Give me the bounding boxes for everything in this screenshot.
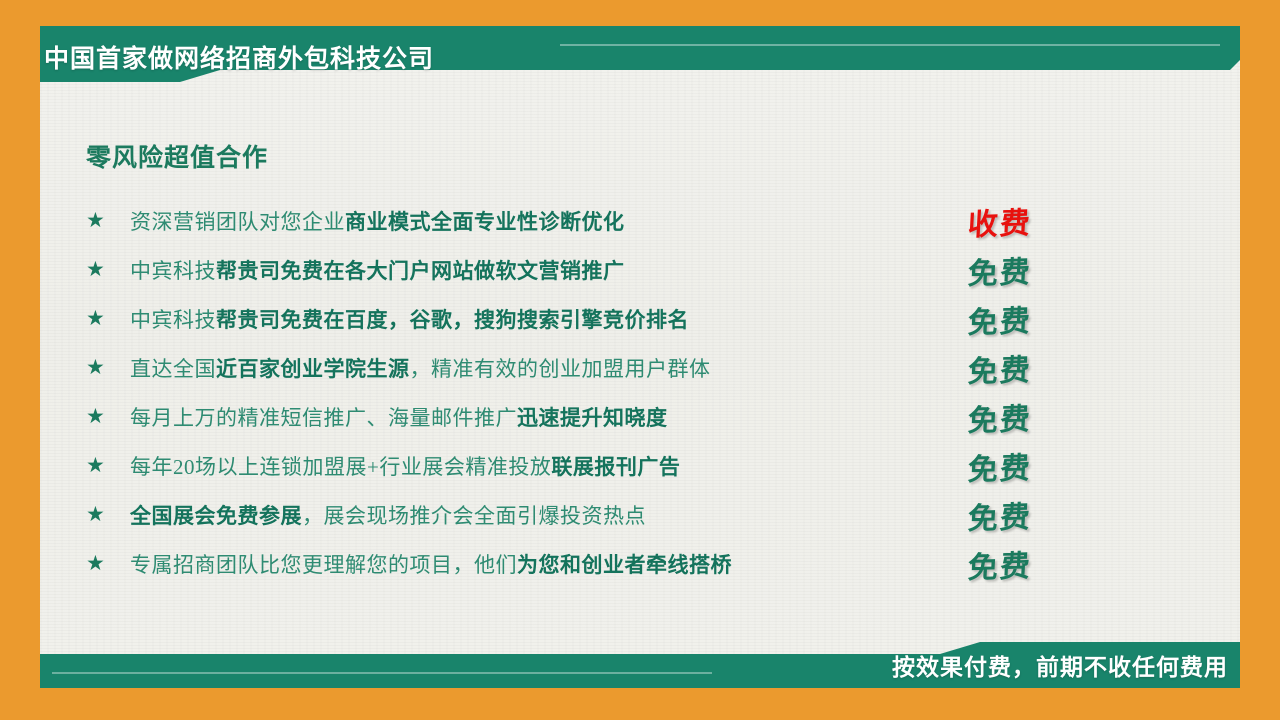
price-badge: 免费	[929, 292, 1072, 346]
list-item-emphasis: 帮贵司免费在百度，谷歌，搜狗搜索引擎竞价排名	[216, 309, 689, 332]
list-item: ★中宾科技帮贵司免费在各大门户网站做软文营销推广	[86, 245, 966, 294]
star-icon: ★	[86, 406, 130, 427]
slide-root: 中国首家做网络招商外包科技公司 零风险超值合作 ★资深营销团队对您企业商业模式全…	[0, 0, 1280, 720]
list-item-emphasis: 迅速提升知晓度	[517, 407, 668, 430]
list-item: ★每年20场以上连锁加盟展+行业展会精准投放联展报刊广告	[86, 441, 966, 490]
list-item-plain-suffix: ，展会现场推介会全面引爆投资热点	[302, 504, 646, 528]
section-title: 零风险超值合作	[86, 138, 268, 174]
list-item-emphasis: 为您和创业者牵线搭桥	[517, 554, 732, 577]
list-item-plain-prefix: 中宾科技	[130, 308, 216, 332]
price-column: 收费免费免费免费免费免费免费免费	[930, 196, 1070, 588]
list-item-text: 资深营销团队对您企业商业模式全面专业性诊断优化	[130, 206, 625, 236]
list-item: ★直达全国近百家创业学院生源，精准有效的创业加盟用户群体	[86, 343, 966, 392]
list-item-text: 中宾科技帮贵司免费在百度，谷歌，搜狗搜索引擎竞价排名	[130, 304, 689, 334]
list-item-text: 中宾科技帮贵司免费在各大门户网站做软文营销推广	[130, 255, 625, 285]
price-badge: 免费	[929, 341, 1072, 395]
list-item-plain-prefix: 每年20场以上连锁加盟展+行业展会精准投放	[130, 455, 551, 479]
price-badge: 免费	[929, 390, 1072, 444]
star-icon: ★	[86, 210, 130, 231]
list-item-text: 全国展会免费参展，展会现场推介会全面引爆投资热点	[130, 500, 646, 530]
list-item-text: 每年20场以上连锁加盟展+行业展会精准投放联展报刊广告	[130, 451, 680, 481]
footer-hairline-divider	[52, 672, 712, 674]
benefit-list: ★资深营销团队对您企业商业模式全面专业性诊断优化★中宾科技帮贵司免费在各大门户网…	[86, 196, 966, 588]
list-item: ★专属招商团队比您更理解您的项目，他们为您和创业者牵线搭桥	[86, 539, 966, 588]
list-item-plain-prefix: 资深营销团队对您企业	[130, 210, 345, 234]
list-item-text: 每月上万的精准短信推广、海量邮件推广迅速提升知晓度	[130, 402, 668, 432]
list-item-text: 专属招商团队比您更理解您的项目，他们为您和创业者牵线搭桥	[130, 549, 732, 579]
list-item-emphasis: 联展报刊广告	[551, 456, 680, 479]
list-item-plain-suffix: ，精准有效的创业加盟用户群体	[410, 357, 711, 381]
list-item: ★每月上万的精准短信推广、海量邮件推广迅速提升知晓度	[86, 392, 966, 441]
star-icon: ★	[86, 553, 130, 574]
header-title: 中国首家做网络招商外包科技公司	[44, 39, 434, 75]
list-item-plain-prefix: 直达全国	[130, 357, 216, 381]
list-item-emphasis: 帮贵司免费在各大门户网站做软文营销推广	[216, 260, 625, 283]
price-badge: 免费	[929, 537, 1072, 591]
list-item-plain-prefix: 中宾科技	[130, 259, 216, 283]
star-icon: ★	[86, 308, 130, 329]
star-icon: ★	[86, 357, 130, 378]
list-item-plain-prefix: 每月上万的精准短信推广、海量邮件推广	[130, 406, 517, 430]
list-item: ★全国展会免费参展，展会现场推介会全面引爆投资热点	[86, 490, 966, 539]
star-icon: ★	[86, 259, 130, 280]
star-icon: ★	[86, 455, 130, 476]
list-item-emphasis: 全国展会免费参展	[130, 505, 302, 528]
list-item-emphasis: 近百家创业学院生源	[216, 358, 410, 381]
price-badge: 免费	[929, 439, 1072, 493]
list-item-plain-prefix: 专属招商团队比您更理解您的项目，他们	[130, 553, 517, 577]
price-badge: 免费	[929, 243, 1072, 297]
list-item: ★资深营销团队对您企业商业模式全面专业性诊断优化	[86, 196, 966, 245]
list-item-text: 直达全国近百家创业学院生源，精准有效的创业加盟用户群体	[130, 353, 711, 383]
price-badge: 收费	[929, 194, 1072, 248]
list-item: ★中宾科技帮贵司免费在百度，谷歌，搜狗搜索引擎竞价排名	[86, 294, 966, 343]
header-hairline-divider	[560, 44, 1220, 46]
list-item-emphasis: 商业模式全面专业性诊断优化	[345, 211, 625, 234]
price-badge: 免费	[929, 488, 1072, 542]
footer-tagline: 按效果付费，前期不收任何费用	[892, 648, 1228, 682]
star-icon: ★	[86, 504, 130, 525]
